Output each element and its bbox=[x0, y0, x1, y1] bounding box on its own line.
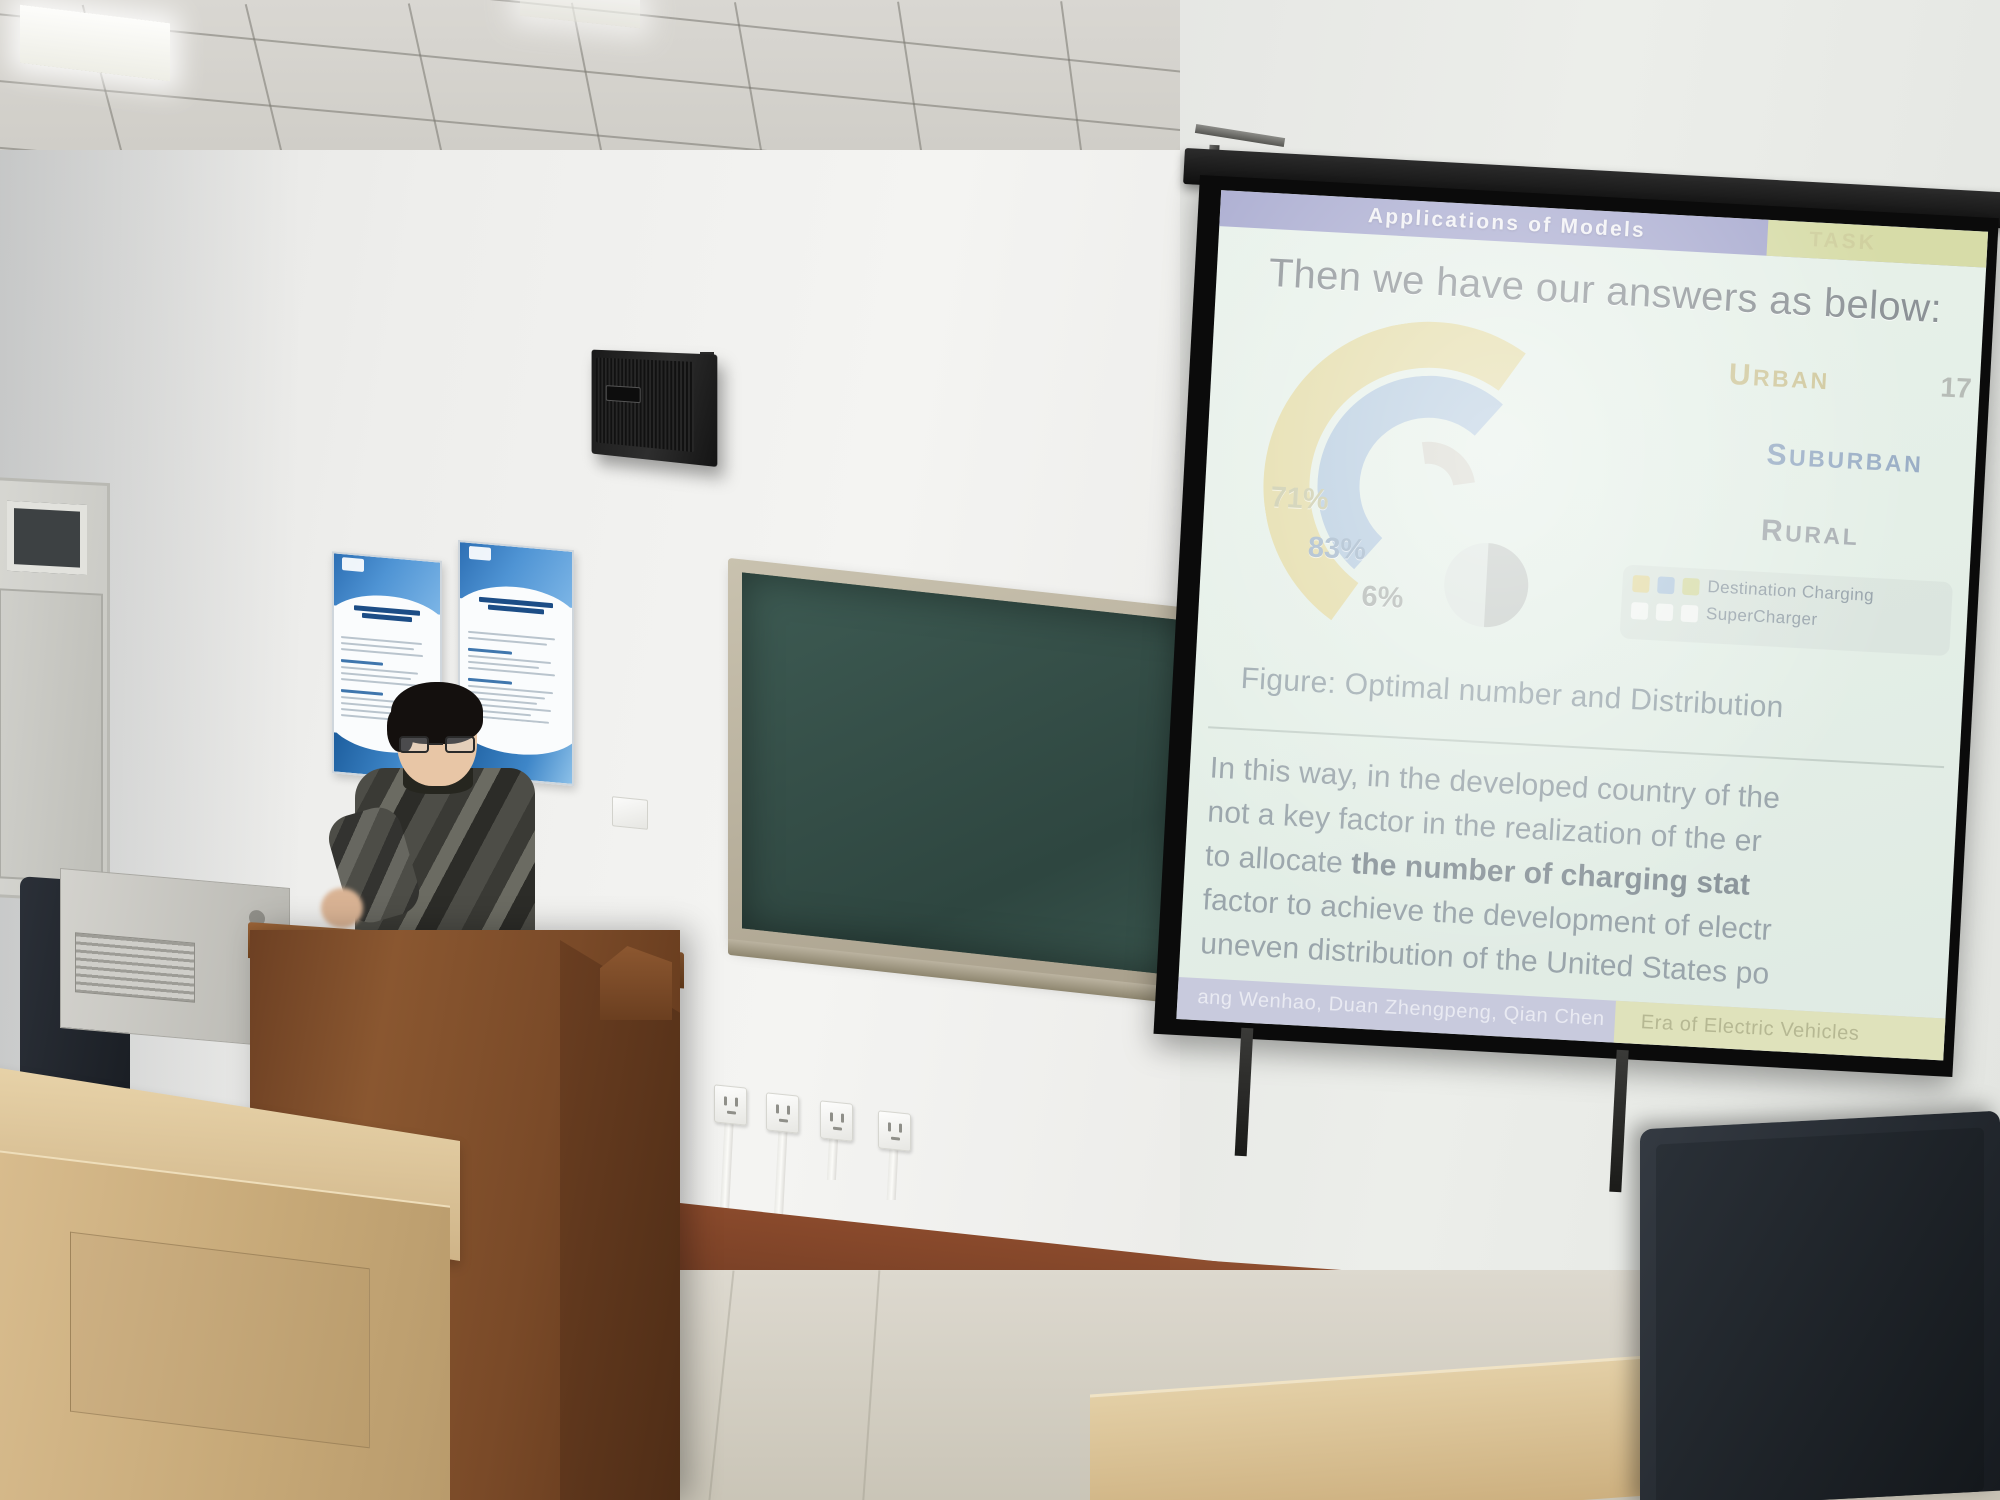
chalkboard-surface bbox=[742, 572, 1214, 979]
region-rest: URAL bbox=[1785, 520, 1861, 550]
wall-outlet-1[interactable] bbox=[714, 1084, 747, 1125]
slide-task-label: TASK bbox=[1809, 228, 1988, 262]
equipment-vent bbox=[75, 932, 195, 1002]
dark-monitor bbox=[1640, 1111, 2000, 1500]
cabinet-window bbox=[7, 501, 87, 575]
legend-label-destination: Destination Charging bbox=[1707, 577, 1875, 606]
region-rest: RBAN bbox=[1752, 364, 1830, 394]
legend-swatch bbox=[1681, 604, 1699, 622]
figure-caption: Figure: Optimal number and Distribution bbox=[1240, 662, 1785, 725]
floor-seam bbox=[862, 1270, 881, 1500]
slide-authors: ang Wenhao, Duan Zhengpeng, Qian Chen bbox=[1197, 986, 1605, 1031]
gauge-value-rural: 6% bbox=[1361, 580, 1405, 615]
legend-swatch bbox=[1657, 576, 1675, 594]
slide-footer-tab: Era of Electric Vehicles bbox=[1614, 1001, 1946, 1061]
region-label-urban: URBAN bbox=[1728, 358, 1831, 397]
region-rest: UBURBAN bbox=[1788, 444, 1924, 477]
projection-screen: Applications of Models TASK Then we have… bbox=[1153, 175, 1998, 1077]
wall-outlet-4[interactable] bbox=[878, 1110, 911, 1151]
wall-cabinet bbox=[0, 477, 110, 903]
region-label-suburban: SUBURBAN bbox=[1766, 438, 1925, 480]
speaker-badge bbox=[606, 385, 641, 403]
paragraph-line-3-pre: to allocate bbox=[1204, 839, 1352, 880]
slide-paragraph: In this way, in the developed country of… bbox=[1199, 746, 1988, 1010]
cabinet-door bbox=[0, 588, 103, 883]
speaker-grill bbox=[596, 357, 694, 452]
gauge-value-suburban: 83% bbox=[1307, 531, 1367, 567]
region-initial: R bbox=[1760, 514, 1786, 548]
floor-seam bbox=[707, 1271, 734, 1500]
ceiling-grid-line bbox=[0, 10, 1330, 151]
presenter-hair bbox=[391, 682, 483, 744]
legend-label-supercharger: SuperCharger bbox=[1705, 604, 1818, 630]
desk-front-panel bbox=[70, 1232, 370, 1449]
poster-logo bbox=[469, 546, 491, 561]
region-initial: U bbox=[1728, 358, 1754, 392]
slide-footer-tab-label: Era of Electric Vehicles bbox=[1640, 1011, 1945, 1050]
legend-swatch bbox=[1682, 577, 1700, 595]
presentation-slide: Applications of Models TASK Then we have… bbox=[1176, 190, 1988, 1060]
slide-task-tab: TASK bbox=[1766, 220, 1988, 268]
region-label-rural: RURAL bbox=[1760, 514, 1860, 553]
wall-outlet-2[interactable] bbox=[766, 1092, 799, 1133]
legend-swatch bbox=[1631, 601, 1649, 619]
wall-outlet-3[interactable] bbox=[820, 1100, 853, 1141]
wall-speaker bbox=[592, 350, 718, 467]
presenter-hand bbox=[321, 888, 363, 928]
slide-section-label: Applications of Models bbox=[1367, 204, 1646, 243]
poster-logo bbox=[342, 557, 364, 572]
monitor-bezel bbox=[1656, 1127, 1984, 1500]
screen-surface: Applications of Models TASK Then we have… bbox=[1176, 190, 1988, 1060]
eyeglasses-icon bbox=[397, 736, 477, 753]
legend-swatch bbox=[1632, 575, 1650, 593]
lectern-side-panel bbox=[560, 940, 680, 1500]
chalkboard bbox=[728, 558, 1228, 997]
gauge-value-urban: 71% bbox=[1270, 481, 1330, 517]
region-initial: S bbox=[1766, 438, 1790, 472]
legend-swatch bbox=[1656, 603, 1674, 621]
region-number: 17 bbox=[1940, 371, 1973, 405]
classroom-photo-scene: Applications of Models TASK Then we have… bbox=[0, 0, 2000, 1500]
light-switch[interactable] bbox=[612, 796, 648, 830]
